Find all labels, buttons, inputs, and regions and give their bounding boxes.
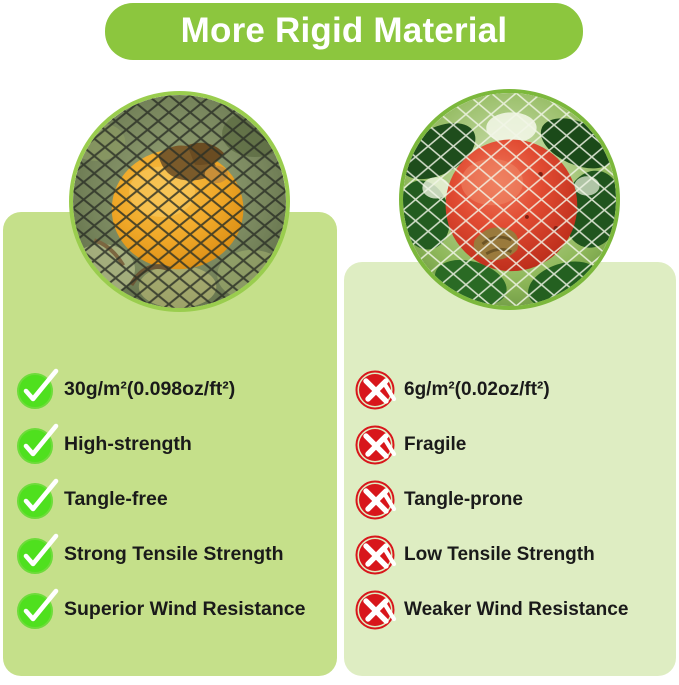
cross-icon [358,372,394,408]
list-item-label: 30g/m²(0.098oz/ft²) [64,380,235,400]
list-item: Tangle-free [18,472,328,527]
thin-material-feature-list: 6g/m²(0.02oz/ft²) Fragile Tangle-prone [358,362,670,637]
list-item-label: High-strength [64,435,192,455]
page-title: More Rigid Material [181,13,508,51]
list-item-label: Strong Tensile Strength [64,545,284,565]
list-item-label: Tangle-prone [404,490,523,509]
cross-icon [358,537,394,573]
check-icon [18,427,54,463]
check-icon [18,537,54,573]
check-icon [18,592,54,628]
pomegranate-netting-photo [399,89,620,310]
check-icon [18,482,54,518]
check-icon [18,372,54,408]
list-item-label: Weaker Wind Resistance [404,600,628,619]
list-item: 6g/m²(0.02oz/ft²) [358,362,670,417]
list-item: Weaker Wind Resistance [358,582,670,637]
list-item: Tangle-prone [358,472,670,527]
list-item-label: Fragile [404,435,466,454]
list-item: 30g/m²(0.098oz/ft²) [18,362,328,417]
persimmon-netting-photo [69,91,290,312]
list-item: Low Tensile Strength [358,527,670,582]
title-banner: More Rigid Material [105,3,583,60]
list-item-label: Superior Wind Resistance [64,600,305,620]
cross-icon [358,482,394,518]
list-item-label: Tangle-free [64,490,168,510]
list-item-label: Low Tensile Strength [404,545,595,564]
list-item: Strong Tensile Strength [18,527,328,582]
rigid-material-feature-list: 30g/m²(0.098oz/ft²) High-strength Tangle… [18,362,328,637]
cross-icon [358,427,394,463]
list-item: Fragile [358,417,670,472]
list-item-label: 6g/m²(0.02oz/ft²) [404,380,550,399]
list-item: Superior Wind Resistance [18,582,328,637]
cross-icon [358,592,394,628]
list-item: High-strength [18,417,328,472]
